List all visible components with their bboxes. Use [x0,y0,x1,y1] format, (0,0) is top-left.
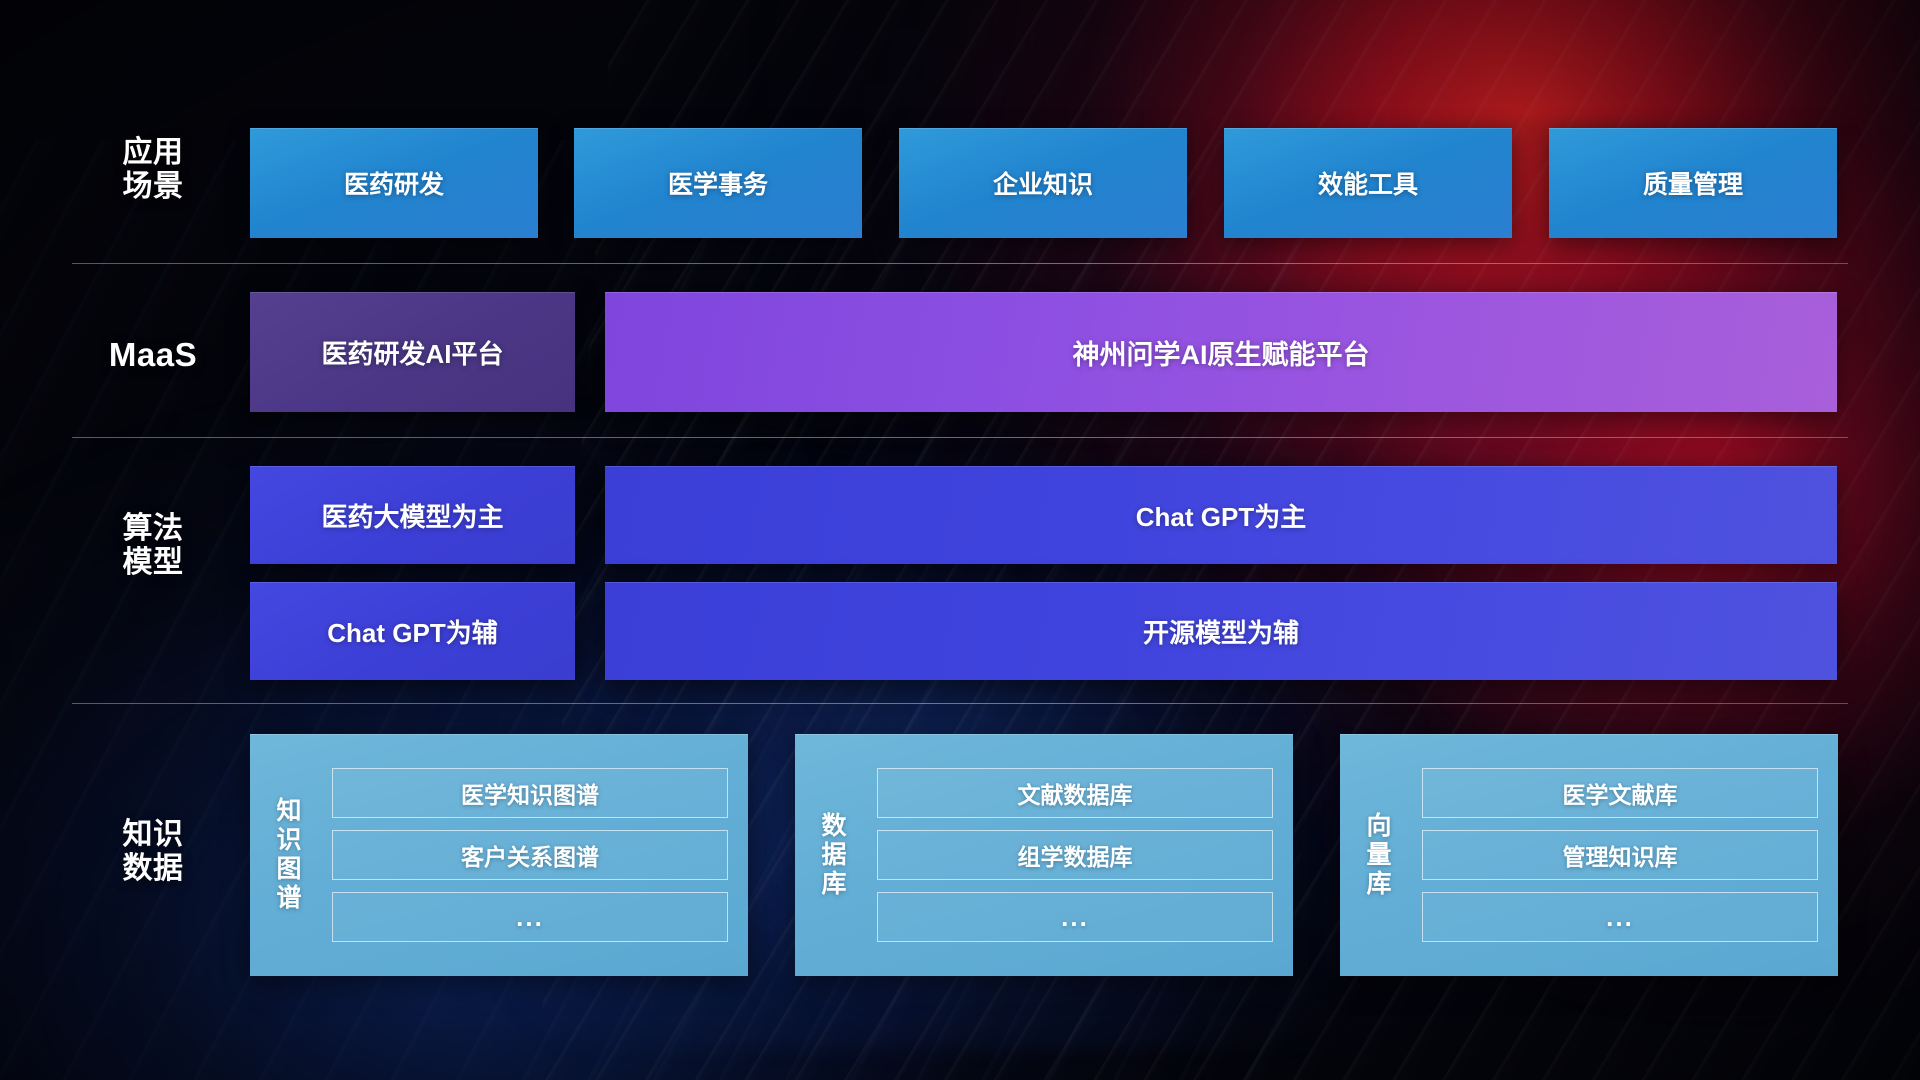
knowledge-panel-1[interactable]: 知识图谱 医学知识图谱 客户关系图谱 ... [250,734,748,976]
knowledge-panel-3-item-1[interactable]: 医学文献库 [1422,768,1818,818]
algo-bar-1-right-label: Chat GPT为主 [1136,497,1306,534]
algo-bar-1-right[interactable]: Chat GPT为主 [605,466,1837,564]
app-tile-5-label: 质量管理 [1643,165,1743,201]
row-divider-1 [72,263,1848,264]
app-tile-2-label: 医学事务 [668,165,768,201]
maas-right-label: 神州问学AI原生赋能平台 [1073,333,1370,372]
knowledge-panel-3-items: 医学文献库 管理知识库 ... [1412,734,1838,976]
knowledge-panel-1-item-1[interactable]: 医学知识图谱 [332,768,728,818]
knowledge-panel-3-side-label: 向量库 [1340,734,1412,976]
knowledge-panel-2-side-text: 数据库 [819,812,849,899]
knowledge-panel-2-item-2[interactable]: 组学数据库 [877,830,1273,880]
architecture-diagram: 应用 场景 医药研发 医学事务 企业知识 效能工具 质量管理 MaaS 医药研发… [0,0,1920,1080]
row-divider-3 [72,703,1848,704]
algo-bar-2-left-label: Chat GPT为辅 [327,613,497,650]
row-label-algo-line-1: 算法 [88,512,218,546]
app-tile-4[interactable]: 效能工具 [1224,128,1512,238]
algo-bar-2-right[interactable]: 开源模型为辅 [605,582,1837,680]
row-divider-2 [72,437,1848,438]
knowledge-panel-2-item-1[interactable]: 文献数据库 [877,768,1273,818]
knowledge-panel-3[interactable]: 向量库 医学文献库 管理知识库 ... [1340,734,1838,976]
row-label-algo-line-2: 模型 [88,546,218,580]
app-tile-1-label: 医药研发 [344,165,444,201]
row-label-maas: MaaS [88,337,218,374]
algo-bar-2-left[interactable]: Chat GPT为辅 [250,582,575,680]
row-label-knowledge-data: 知识 数据 [88,818,218,885]
knowledge-panel-1-item-3[interactable]: ... [332,892,728,942]
algo-bar-2-right-label: 开源模型为辅 [1143,613,1299,650]
app-tile-5[interactable]: 质量管理 [1549,128,1837,238]
knowledge-panel-1-side-label: 知识图谱 [250,734,322,976]
row-label-line-1: 应用 [88,136,218,170]
row-label-knowledge-line-2: 数据 [88,852,218,886]
knowledge-panel-3-item-2[interactable]: 管理知识库 [1422,830,1818,880]
knowledge-panel-1-item-2[interactable]: 客户关系图谱 [332,830,728,880]
row-label-algorithm-model: 算法 模型 [88,512,218,579]
maas-right-box[interactable]: 神州问学AI原生赋能平台 [605,292,1837,412]
row-label-knowledge-line-1: 知识 [88,818,218,852]
app-tile-3-label: 企业知识 [993,165,1093,201]
row-label-application-scenario: 应用 场景 [88,136,218,203]
app-tile-4-label: 效能工具 [1318,165,1418,201]
knowledge-panel-2-item-3[interactable]: ... [877,892,1273,942]
row-label-line-2: 场景 [88,170,218,204]
knowledge-panel-3-item-3[interactable]: ... [1422,892,1818,942]
knowledge-panel-3-side-text: 向量库 [1364,812,1394,899]
knowledge-panel-2-items: 文献数据库 组学数据库 ... [867,734,1293,976]
knowledge-panel-2[interactable]: 数据库 文献数据库 组学数据库 ... [795,734,1293,976]
algo-bar-1-left-label: 医药大模型为主 [321,497,503,534]
knowledge-panel-1-items: 医学知识图谱 客户关系图谱 ... [322,734,748,976]
knowledge-panel-2-side-label: 数据库 [795,734,867,976]
row-label-maas-text: MaaS [88,337,218,374]
maas-left-label: 医药研发AI平台 [321,334,503,371]
app-tile-1[interactable]: 医药研发 [250,128,538,238]
maas-left-box[interactable]: 医药研发AI平台 [250,292,575,412]
algo-bar-1-left[interactable]: 医药大模型为主 [250,466,575,564]
knowledge-panel-1-side-text: 知识图谱 [274,797,304,913]
app-tile-3[interactable]: 企业知识 [899,128,1187,238]
app-tile-2[interactable]: 医学事务 [574,128,862,238]
